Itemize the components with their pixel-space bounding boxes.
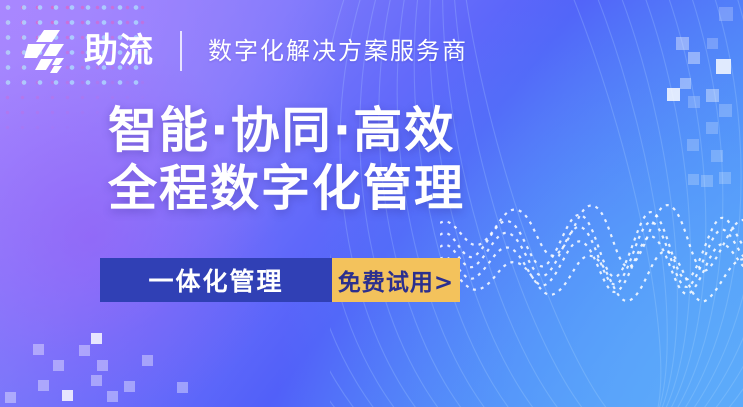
scattered-squares-icon — [142, 355, 153, 366]
promo-banner: 助流 数字化解决方案服务商 智能·协同·高效 全程数字化管理 一体化管理 免费试… — [0, 0, 743, 407]
brand-tagline: 数字化解决方案服务商 — [208, 39, 468, 63]
scattered-squares-icon — [711, 150, 723, 162]
scattered-squares-icon — [719, 7, 733, 21]
scattered-squares-icon — [701, 175, 713, 187]
free-trial-button[interactable]: 免费试用> — [332, 258, 460, 302]
lightning-bolt-blocks-icon — [24, 28, 70, 74]
scattered-squares-icon — [707, 38, 718, 49]
scattered-squares-icon — [97, 360, 108, 371]
scattered-squares-icon — [676, 37, 689, 50]
scattered-squares-icon — [667, 88, 680, 101]
scattered-squares-icon — [79, 345, 90, 356]
scattered-squares-icon — [91, 375, 102, 386]
scattered-squares-icon — [719, 104, 732, 117]
integrated-management-button[interactable]: 一体化管理 — [100, 258, 332, 302]
scattered-squares-icon — [687, 139, 699, 151]
scattered-squares-icon — [5, 392, 16, 403]
scattered-squares-icon — [91, 333, 102, 344]
vertical-divider — [180, 31, 182, 71]
scattered-squares-icon — [719, 172, 731, 184]
headline-line-2: 全程数字化管理 — [108, 160, 465, 218]
brand-logo-row[interactable]: 助流 数字化解决方案服务商 — [24, 28, 468, 74]
scattered-squares-icon — [53, 360, 64, 371]
cta-row: 一体化管理 免费试用> — [100, 258, 460, 302]
scattered-squares-icon — [716, 59, 731, 74]
scattered-squares-icon — [688, 174, 699, 185]
scattered-squares-icon — [62, 390, 73, 401]
brand-wordmark: 助流 — [84, 34, 154, 68]
headline-block: 智能·协同·高效 全程数字化管理 — [108, 102, 465, 218]
dashed-sine-wave-icon — [440, 195, 743, 335]
headline-line-1: 智能·协同·高效 — [108, 102, 465, 160]
scattered-squares-icon — [688, 96, 700, 108]
scattered-squares-icon — [107, 391, 118, 402]
scattered-squares-icon — [706, 89, 719, 102]
scattered-squares-icon — [177, 382, 188, 393]
scattered-squares-icon — [33, 344, 44, 355]
scattered-squares-icon — [124, 381, 135, 392]
scattered-squares-icon — [38, 380, 49, 391]
scattered-squares-icon — [688, 52, 700, 64]
scattered-squares-icon — [680, 78, 691, 89]
scattered-squares-icon — [706, 122, 718, 134]
